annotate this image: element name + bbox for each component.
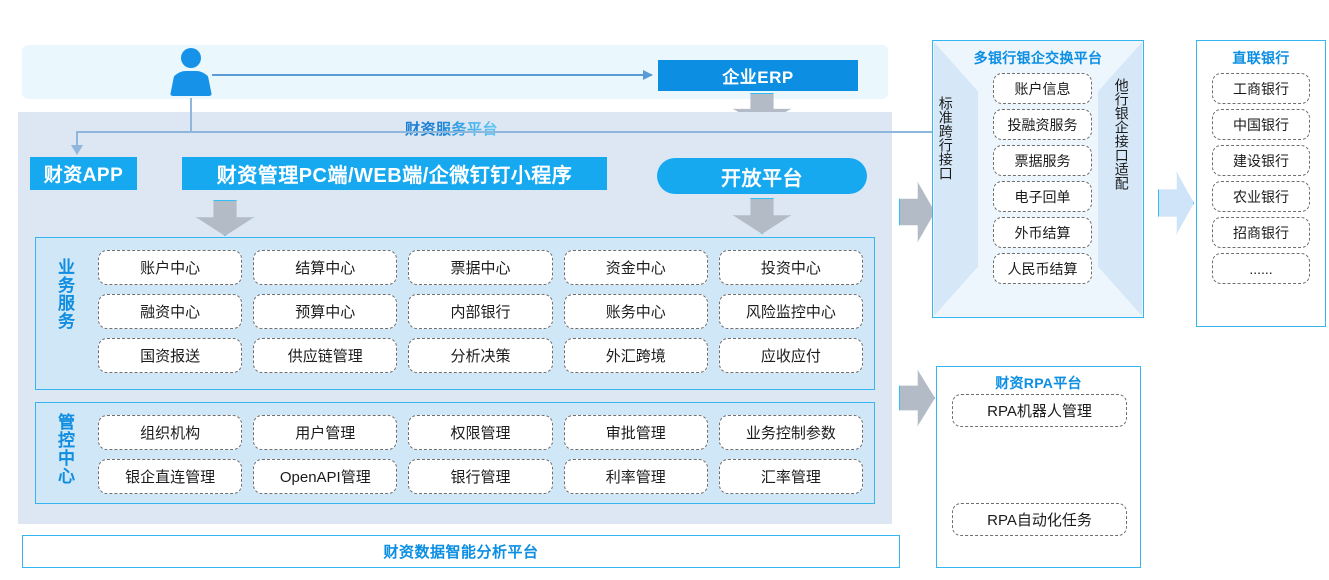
person-body [170, 71, 212, 96]
banks-title: 直联银行 [1196, 48, 1326, 68]
banks-list: 工商银行 中国银行 建设银行 农业银行 招商银行 ...... [1212, 73, 1310, 284]
control-cell[interactable]: 银行管理 [408, 459, 552, 494]
control-cell[interactable]: 组织机构 [98, 415, 242, 450]
analysis-platform-bar: 财资数据智能分析平台 [22, 535, 900, 568]
rpa-title: 财资RPA平台 [936, 373, 1141, 393]
service-cell[interactable]: 预算中心 [253, 294, 397, 329]
exchange-left-label: 标准跨行接口 [938, 96, 953, 276]
business-services-grid: 账户中心 结算中心 票据中心 资金中心 投资中心 融资中心 预算中心 内部银行 … [98, 250, 863, 373]
exchange-right-label: 他行银企接口适配 [1114, 78, 1129, 278]
service-cell[interactable]: 风险监控中心 [719, 294, 863, 329]
exchange-items-list: 账户信息 投融资服务 票据服务 电子回单 外币结算 人民币结算 [993, 73, 1092, 284]
business-services-label: 业务服务 [56, 258, 73, 372]
open-platform-button[interactable]: 开放平台 [657, 158, 867, 194]
service-cell[interactable]: 国资报送 [98, 338, 242, 373]
service-cell[interactable]: 账户中心 [98, 250, 242, 285]
control-cell[interactable]: 权限管理 [408, 415, 552, 450]
down-arrow-icon-left [196, 200, 254, 236]
exchange-item[interactable]: 投融资服务 [993, 109, 1092, 140]
service-cell[interactable]: 账务中心 [564, 294, 708, 329]
connector-vertical [190, 98, 192, 131]
service-cell[interactable]: 内部银行 [408, 294, 552, 329]
service-cell[interactable]: 资金中心 [564, 250, 708, 285]
exchange-item[interactable]: 票据服务 [993, 145, 1092, 176]
bank-item[interactable]: 农业银行 [1212, 181, 1310, 212]
control-cell[interactable]: 用户管理 [253, 415, 397, 450]
bank-item[interactable]: ...... [1212, 253, 1310, 284]
platform-title: 财资服务平台 [405, 118, 498, 139]
rpa-item-automation-task[interactable]: RPA自动化任务 [952, 503, 1127, 536]
bank-item[interactable]: 招商银行 [1212, 217, 1310, 248]
control-cell[interactable]: OpenAPI管理 [253, 459, 397, 494]
control-cell[interactable]: 审批管理 [564, 415, 708, 450]
service-cell[interactable]: 应收应付 [719, 338, 863, 373]
service-cell[interactable]: 供应链管理 [253, 338, 397, 373]
control-center-label: 管控中心 [56, 413, 73, 493]
right-arrow-icon-banks [1158, 172, 1194, 234]
user-to-erp-arrow [212, 74, 652, 76]
person-icon [170, 48, 212, 96]
right-arrow-icon-rpa [899, 370, 935, 426]
exchange-platform-title: 多银行银企交换平台 [932, 48, 1144, 68]
erp-box[interactable]: 企业ERP [658, 60, 858, 91]
control-cell[interactable]: 汇率管理 [719, 459, 863, 494]
exchange-item[interactable]: 账户信息 [993, 73, 1092, 104]
control-cell[interactable]: 业务控制参数 [719, 415, 863, 450]
down-arrow-icon-right [733, 198, 791, 234]
bank-item[interactable]: 中国银行 [1212, 109, 1310, 140]
rpa-item-robot-management[interactable]: RPA机器人管理 [952, 394, 1127, 427]
person-head [181, 48, 201, 68]
bank-item[interactable]: 工商银行 [1212, 73, 1310, 104]
service-cell[interactable]: 投资中心 [719, 250, 863, 285]
control-cell[interactable]: 利率管理 [564, 459, 708, 494]
service-cell[interactable]: 融资中心 [98, 294, 242, 329]
app-button[interactable]: 财资APP [30, 157, 137, 190]
service-cell[interactable]: 结算中心 [253, 250, 397, 285]
service-cell[interactable]: 分析决策 [408, 338, 552, 373]
service-cell[interactable]: 外汇跨境 [564, 338, 708, 373]
control-center-grid: 组织机构 用户管理 权限管理 审批管理 业务控制参数 银企直连管理 OpenAP… [98, 415, 863, 494]
bank-item[interactable]: 建设银行 [1212, 145, 1310, 176]
control-cell[interactable]: 银企直连管理 [98, 459, 242, 494]
exchange-item[interactable]: 人民币结算 [993, 253, 1092, 284]
service-cell[interactable]: 票据中心 [408, 250, 552, 285]
exchange-item[interactable]: 外币结算 [993, 217, 1092, 248]
connector-arrow-app [76, 131, 78, 146]
exchange-item[interactable]: 电子回单 [993, 181, 1092, 212]
pc-web-button[interactable]: 财资管理PC端/WEB端/企微钉钉小程序 [182, 157, 607, 190]
architecture-diagram: 企业ERP 财资服务平台 财资APP 财资管理PC端/WEB端/企微钉钉小程序 … [0, 0, 1329, 580]
right-arrow-icon-exchange [899, 182, 935, 242]
